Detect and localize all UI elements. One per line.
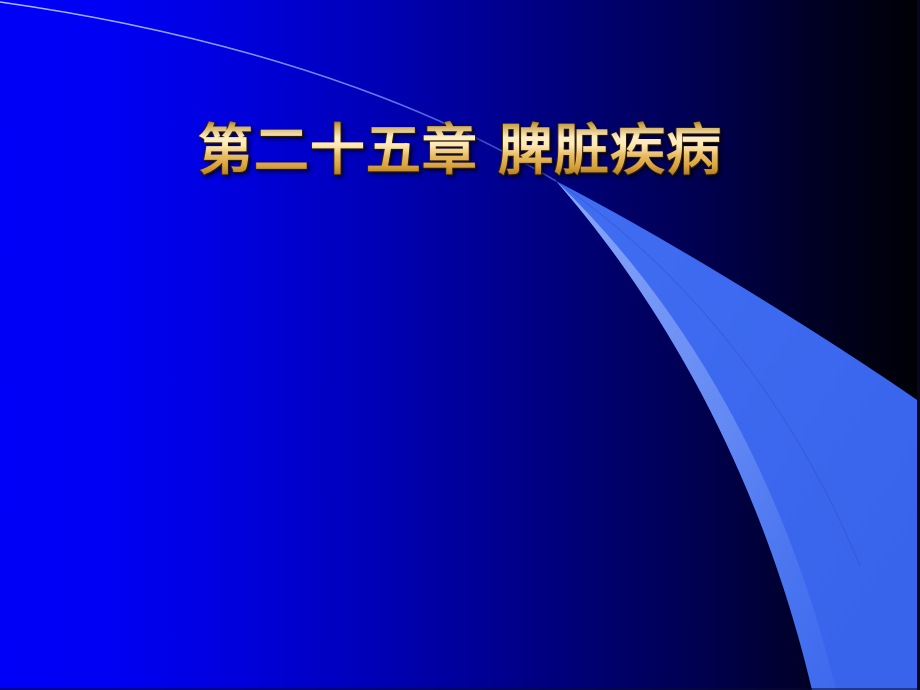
slide-background-graphic bbox=[0, 0, 920, 690]
slide-canvas: 第二十五章 脾脏疾病 第二十五章 脾脏疾病 bbox=[0, 0, 920, 690]
